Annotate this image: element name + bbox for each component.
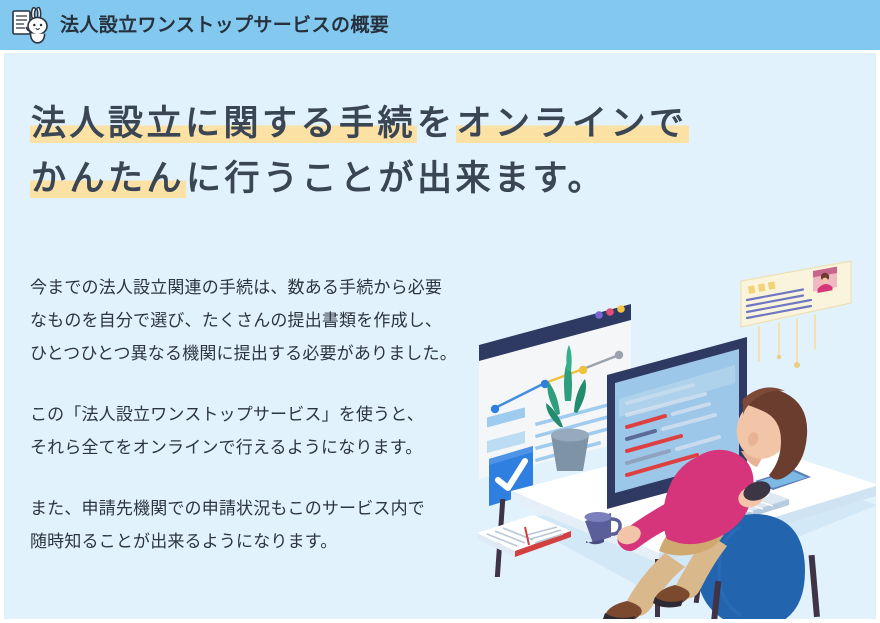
headline-highlight-3: かんたん xyxy=(30,159,186,198)
headline-plain-1: を xyxy=(417,104,456,143)
paragraph-line: 今までの法人設立関連の手続は、数ある手続から必要 xyxy=(30,271,490,304)
browser-dot-pink xyxy=(606,308,614,316)
headline-line-1: 法人設立に関する手続をオンラインで xyxy=(30,96,730,151)
paragraph-line: 随時知ることが出来るようになります。 xyxy=(30,525,490,558)
paragraph-line: それら全てをオンラインで行えるようになります。 xyxy=(30,431,490,464)
blue-checkmark-badge xyxy=(489,446,533,506)
floor-shadow-group xyxy=(519,465,876,595)
page-header: 法人設立ワンストップサービスの概要 xyxy=(0,0,880,50)
desk xyxy=(495,435,876,617)
headline-line-2: かんたんに行うことが出来ます。 xyxy=(30,151,730,206)
isometric-woman-at-desk-illustration xyxy=(459,203,876,619)
headline: 法人設立に関する手続をオンラインで かんたんに行うことが出来ます。 xyxy=(30,96,730,206)
open-notebook xyxy=(477,515,571,557)
headline-highlight-1: 法人設立に関する手続 xyxy=(30,104,417,143)
tablet xyxy=(755,469,811,490)
paragraph-line: ひとつひとつ異なる機関に提出する必要がありました。 xyxy=(30,337,490,370)
slide-root: 法人設立ワンストップサービスの概要 法人設立に関する手続をオンラインで かんたん… xyxy=(0,0,880,623)
headline-plain-2: に行うことが出来ます。 xyxy=(186,159,606,198)
paragraph-status: また、申請先機関での申請状況もこのサービス内で 随時知ることが出来るようになりま… xyxy=(30,492,490,558)
browser-dot-yellow xyxy=(617,305,625,313)
paragraph-service: この「法人設立ワンストップサービス」を使うと、 それら全てをオンラインで行えるよ… xyxy=(30,398,490,464)
id-certificate-card xyxy=(741,261,851,368)
paragraph-line: なものを自分で選び、たくさんの提出書類を作成し、 xyxy=(30,304,490,337)
keyboard xyxy=(655,485,789,535)
potted-plant xyxy=(546,345,589,471)
page-title: 法人設立ワンストップサービスの概要 xyxy=(60,16,389,35)
progress-tracker xyxy=(491,351,623,413)
page-body: 法人設立に関する手続をオンラインで かんたんに行うことが出来ます。 今までの法人… xyxy=(4,53,876,619)
office-chair xyxy=(694,514,820,619)
headline-highlight-2: オンラインで xyxy=(456,104,689,143)
paragraph-line: また、申請先機関での申請状況もこのサービス内で xyxy=(30,492,490,525)
browser-dot-purple xyxy=(595,311,603,319)
paragraph-line: この「法人設立ワンストップサービス」を使うと、 xyxy=(30,398,490,431)
browser-window-card xyxy=(479,304,631,506)
coffee-mug xyxy=(585,512,621,544)
paragraph-before: 今までの法人設立関連の手続は、数ある手続から必要 なものを自分で選び、たくさんの… xyxy=(30,271,490,370)
rabbit-mascot-document-icon xyxy=(10,4,54,46)
woman-person xyxy=(603,387,807,619)
body-copy: 今までの法人設立関連の手続は、数ある手続から必要 なものを自分で選び、たくさんの… xyxy=(30,271,490,558)
desktop-monitor xyxy=(607,337,747,509)
